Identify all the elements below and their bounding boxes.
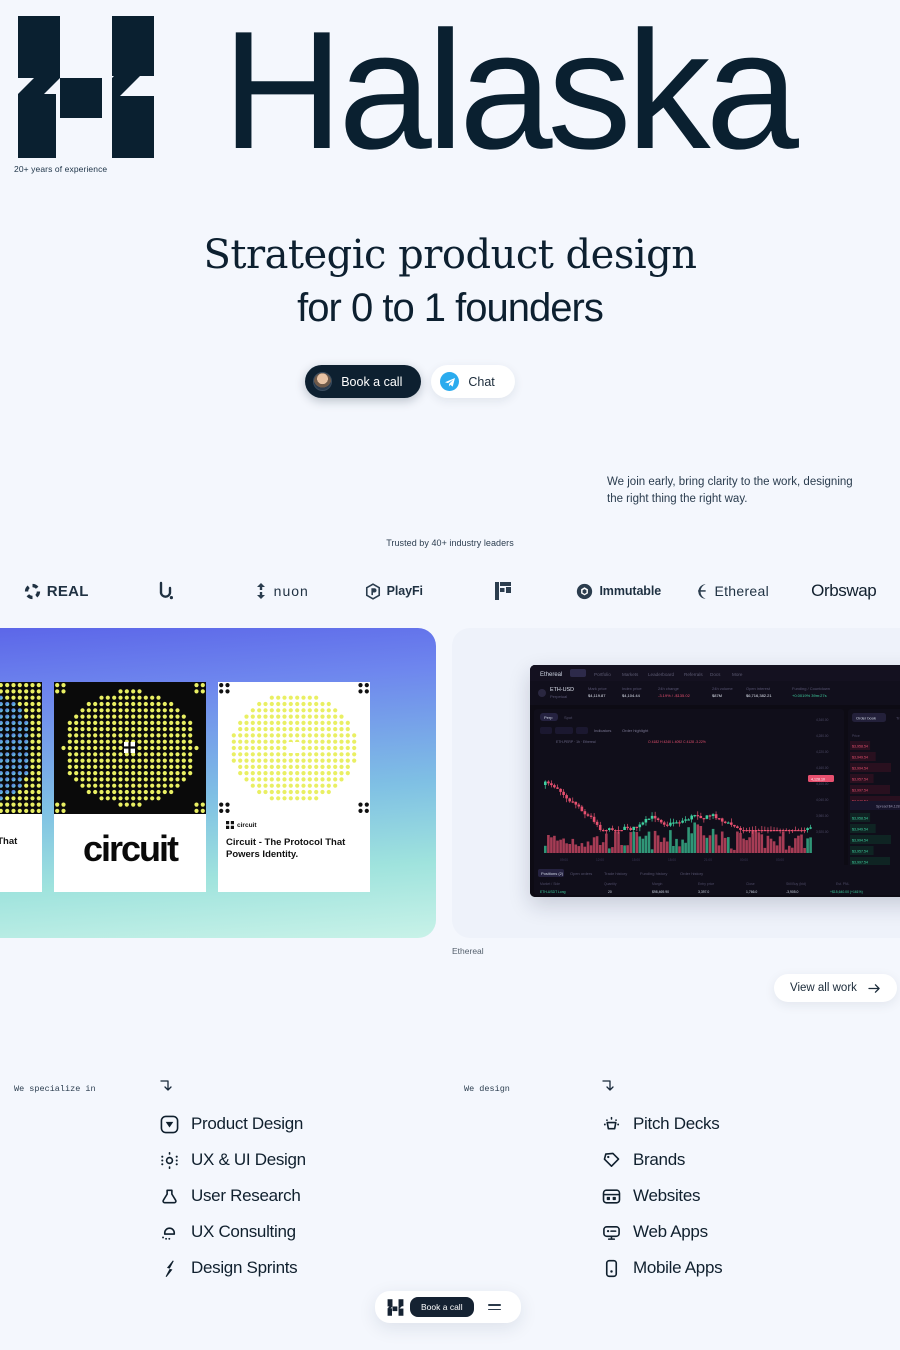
- svg-text:O 4182 H 4240 L 4092 C 4128: O 4182 H 4240 L 4092 C 4128 -3.22%: [648, 740, 706, 744]
- circuit-label: circuit: [237, 822, 257, 829]
- svg-text:$3,949.54: $3,949.54: [852, 755, 868, 759]
- svg-text:20: 20: [608, 890, 612, 894]
- svg-text:3,397.0: 3,397.0: [698, 890, 709, 894]
- svg-text:Perpetual: Perpetual: [550, 694, 567, 699]
- svg-text:Entry price: Entry price: [698, 882, 714, 886]
- svg-text:Portfolio: Portfolio: [594, 672, 611, 677]
- ethereal-crescent-icon: [693, 583, 708, 600]
- experience-note: 20+ years of experience: [14, 164, 107, 174]
- svg-text:3,980.00: 3,980.00: [816, 814, 829, 818]
- svg-text:-3.19% / -$135.02: -3.19% / -$135.02: [658, 693, 691, 698]
- service-label: UX Consulting: [191, 1222, 296, 1242]
- svg-text:$3,949.54: $3,949.54: [852, 827, 868, 831]
- service-label: Mobile Apps: [633, 1258, 722, 1278]
- service-label: Web Apps: [633, 1222, 708, 1242]
- svg-text:$3,997.54: $3,997.54: [852, 860, 868, 864]
- service-item-mobile-apps[interactable]: Mobile Apps: [602, 1250, 722, 1286]
- svg-text:ETH-USD: ETH-USD: [550, 687, 574, 693]
- svg-text:$98,469.90: $98,469.90: [652, 890, 669, 894]
- svg-text:15:00: 15:00: [632, 858, 640, 862]
- svg-text:Spot: Spot: [564, 715, 573, 720]
- svg-text:00:00: 00:00: [740, 858, 748, 862]
- svg-text:09:00: 09:00: [560, 858, 568, 862]
- svg-text:More: More: [732, 672, 743, 677]
- svg-text:Est. PNL: Est. PNL: [836, 882, 849, 886]
- ethereal-dashboard-screenshot: Ethereal PortfolioMarkets LeaderboardRef…: [530, 665, 900, 897]
- svg-text:Index price: Index price: [622, 686, 642, 691]
- svg-text:Markets: Markets: [622, 672, 639, 677]
- svg-text:4,128.10: 4,128.10: [811, 778, 825, 782]
- view-all-work-label: View all work: [790, 982, 857, 994]
- view-all-work-button[interactable]: View all work: [774, 974, 897, 1002]
- svg-text:4,280.00: 4,280.00: [816, 734, 829, 738]
- hero-headline: Strategic product design for 0 to 1 foun…: [0, 228, 900, 334]
- svg-text:4,100.00: 4,100.00: [816, 782, 829, 786]
- svg-text:24h change: 24h change: [658, 686, 680, 691]
- trusted-by-label: Trusted by 40+ industry leaders: [0, 538, 900, 548]
- ethereal-caption: Ethereal: [452, 946, 484, 956]
- work-card-ethereal[interactable]: Ethereal PortfolioMarkets LeaderboardRef…: [452, 628, 900, 938]
- circuit-mini-caption-3: Circuit - The Protocol That Powers Ident…: [218, 829, 370, 868]
- svg-text:$3,958.54: $3,958.54: [852, 744, 868, 748]
- service-label: User Research: [191, 1186, 300, 1206]
- tag-brand-icon: [602, 1151, 621, 1170]
- real-pinwheel-icon: [24, 583, 41, 600]
- svg-text:$3,957.54: $3,957.54: [852, 849, 868, 853]
- halaska-h-mark-icon: [16, 14, 156, 160]
- pitch-deck-icon: [602, 1115, 621, 1134]
- arrow-turn-down-icon: [602, 1080, 614, 1094]
- svg-text:$3,994.54: $3,994.54: [852, 766, 868, 770]
- client-logo-f-blocks[interactable]: [450, 580, 563, 602]
- monitor-webapp-icon: [602, 1223, 621, 1242]
- flask-research-icon: [160, 1187, 179, 1206]
- avatar: [313, 372, 332, 391]
- service-label: Websites: [633, 1186, 700, 1206]
- client-logo-real[interactable]: REAL: [0, 583, 113, 600]
- services-left-list: Product Design UX & UI Design User Resea…: [160, 1106, 306, 1286]
- svg-text:Order highlight: Order highlight: [622, 728, 649, 733]
- service-item-product-design[interactable]: Product Design: [160, 1106, 306, 1142]
- client-logo-script[interactable]: [113, 580, 226, 602]
- halaska-h-mark-icon[interactable]: [387, 1299, 404, 1316]
- sun-ux-ui-icon: [160, 1151, 179, 1170]
- svg-text:-3,905.0: -3,905.0: [786, 890, 799, 894]
- arrow-right-icon: [868, 983, 881, 994]
- circuit-poster-3: circuit Circuit - The Protocol That Powe…: [218, 682, 370, 892]
- svg-text:Positions (2): Positions (2): [541, 871, 564, 876]
- hamburger-menu-icon[interactable]: [480, 1300, 509, 1314]
- client-name: Immutable: [599, 584, 661, 598]
- services-right-label: We design: [464, 1084, 510, 1094]
- svg-text:$4,104.44: $4,104.44: [622, 693, 641, 698]
- service-item-web-apps[interactable]: Web Apps: [602, 1214, 722, 1250]
- svg-text:Market / Side: Market / Side: [540, 882, 560, 886]
- svg-text:Indicators: Indicators: [594, 728, 611, 733]
- svg-text:$87M: $87M: [712, 693, 722, 698]
- svg-text:4,160.00: 4,160.00: [816, 766, 829, 770]
- svg-text:$6,716,382.21: $6,716,382.21: [746, 693, 772, 698]
- svg-text:Price: Price: [852, 734, 860, 738]
- phone-mobile-icon: [602, 1259, 621, 1278]
- svg-text:Docs: Docs: [710, 672, 721, 677]
- website-window-icon: [602, 1187, 621, 1206]
- service-item-websites[interactable]: Websites: [602, 1178, 722, 1214]
- svg-text:$3,958.54: $3,958.54: [852, 816, 868, 820]
- svg-text:12:00: 12:00: [596, 858, 604, 862]
- circuit-mini-label-3: circuit: [218, 814, 370, 829]
- circuit-poster-2: circuit: [54, 682, 206, 892]
- svg-text:03:00: 03:00: [776, 858, 784, 862]
- service-item-brands[interactable]: Brands: [602, 1142, 722, 1178]
- consulting-icon: [160, 1223, 179, 1242]
- script-u-icon: [156, 580, 176, 602]
- svg-text:Order history: Order history: [680, 871, 703, 876]
- book-a-call-label: Book a call: [341, 375, 402, 389]
- arrow-turn-down-icon: [160, 1080, 172, 1094]
- telegram-icon: [440, 372, 459, 391]
- f-blocks-icon: [493, 580, 513, 602]
- svg-text:3,920.00: 3,920.00: [816, 830, 829, 834]
- product-design-icon: [160, 1115, 179, 1134]
- services-right-list: Pitch Decks Brands: [602, 1106, 722, 1286]
- client-logo-strip: REAL nuon PlayFi: [0, 572, 900, 610]
- svg-text:+0.0019% 39m:27s: +0.0019% 39m:27s: [792, 693, 827, 698]
- service-label: Brands: [633, 1150, 685, 1170]
- sprint-bolt-icon: [160, 1259, 179, 1278]
- svg-text:$3,957.54: $3,957.54: [852, 777, 868, 781]
- client-logo-playfi[interactable]: PlayFi: [338, 583, 451, 600]
- book-a-call-button[interactable]: Book a call: [305, 365, 421, 398]
- svg-text:18:00: 18:00: [668, 858, 676, 862]
- playfi-hex-icon: [365, 583, 381, 600]
- client-logo-ethereal[interactable]: Ethereal: [675, 583, 788, 600]
- client-name: Orbswap: [811, 581, 876, 601]
- svg-text:Open interest: Open interest: [746, 686, 771, 691]
- circuit-poster-1: Circuit - The Protocol That Powers Ident…: [0, 682, 42, 892]
- service-label: Product Design: [191, 1114, 303, 1134]
- svg-text:Referrals: Referrals: [684, 672, 703, 677]
- svg-text:Margin: Margin: [652, 882, 662, 886]
- svg-text:Perp: Perp: [544, 715, 553, 720]
- chat-label: Chat: [468, 375, 494, 389]
- service-label: UX & UI Design: [191, 1150, 306, 1170]
- services-left-label: We specialize in: [14, 1084, 96, 1094]
- service-item-user-research[interactable]: User Research: [160, 1178, 306, 1214]
- svg-text:ETH-PERP · 1h · Ethereal: ETH-PERP · 1h · Ethereal: [556, 740, 596, 744]
- floating-dock: Book a call: [375, 1291, 521, 1323]
- svg-text:Trade history: Trade history: [896, 716, 900, 721]
- svg-text:Open orders: Open orders: [570, 871, 592, 876]
- client-name: REAL: [47, 583, 89, 600]
- svg-text:$4,119.87: $4,119.87: [588, 693, 606, 698]
- dock-book-a-call-button[interactable]: Book a call: [410, 1297, 474, 1317]
- svg-text:Funding history: Funding history: [640, 871, 667, 876]
- service-label: Pitch Decks: [633, 1114, 719, 1134]
- work-showcase: Circuit - The Protocol That Powers Ident…: [0, 628, 900, 948]
- svg-text:4,220.00: 4,220.00: [816, 750, 829, 754]
- service-item-design-sprints[interactable]: Design Sprints: [160, 1250, 306, 1286]
- work-card-circuit[interactable]: Circuit - The Protocol That Powers Ident…: [0, 628, 436, 938]
- circuit-mini-caption: Circuit - The Protocol That Powers Ident…: [0, 828, 42, 867]
- svg-text:Ethereal: Ethereal: [540, 672, 562, 678]
- hero-tagline: We join early, bring clarity to the work…: [607, 474, 867, 508]
- svg-text:24h volume: 24h volume: [712, 686, 733, 691]
- hero-brand-block: Halaska 20+ years of experience: [0, 0, 900, 180]
- svg-text:ETH-USDT Long: ETH-USDT Long: [540, 890, 566, 894]
- client-logo-nuon[interactable]: nuon: [225, 583, 338, 599]
- client-logo-immutable[interactable]: Immutable: [563, 583, 676, 600]
- svg-text:Mark price: Mark price: [588, 686, 607, 691]
- svg-text:1,766.0: 1,766.0: [746, 890, 757, 894]
- brand-wordmark: Halaska: [222, 6, 794, 174]
- service-label: Design Sprints: [191, 1258, 297, 1278]
- svg-text:+$15,640.00 (+161%): +$15,640.00 (+161%): [830, 890, 863, 894]
- hero-cta-row: Book a call Chat: [0, 365, 900, 398]
- svg-text:$3,997.54: $3,997.54: [852, 788, 868, 792]
- service-item-pitch-decks[interactable]: Pitch Decks: [602, 1106, 722, 1142]
- circuit-dot-art-1: [0, 682, 42, 814]
- svg-text:$3,994.54: $3,994.54: [852, 838, 868, 842]
- circuit-dot-art-2: [54, 682, 206, 814]
- svg-text:Quantity: Quantity: [604, 882, 617, 886]
- service-item-ux-consulting[interactable]: UX Consulting: [160, 1214, 306, 1250]
- chat-button[interactable]: Chat: [431, 365, 514, 398]
- svg-text:Still Buy (bid): Still Buy (bid): [786, 882, 806, 886]
- service-item-ux-ui-design[interactable]: UX & UI Design: [160, 1142, 306, 1178]
- client-name: PlayFi: [387, 584, 423, 598]
- client-logo-orbswap[interactable]: Orbswap: [788, 581, 900, 601]
- svg-text:4,340.00: 4,340.00: [816, 718, 829, 722]
- svg-text:Funding / Countdown: Funding / Countdown: [792, 686, 830, 691]
- svg-text:Close: Close: [746, 882, 755, 886]
- circuit-dot-art-3: [218, 682, 370, 814]
- nuon-arrows-icon: [254, 583, 268, 599]
- svg-text:21:00: 21:00: [704, 858, 712, 862]
- svg-text:Leaderboard: Leaderboard: [648, 672, 674, 677]
- circuit-mark-icon: [226, 821, 234, 829]
- circuit-mini-label: [0, 814, 42, 828]
- svg-text:4,040.00: 4,040.00: [816, 798, 829, 802]
- headline-line-2: for 0 to 1 founders: [0, 282, 900, 334]
- svg-text:Spread $4,128.06: Spread $4,128.06: [876, 804, 900, 808]
- svg-text:Trade history: Trade history: [604, 871, 627, 876]
- svg-text:Order book: Order book: [856, 716, 876, 721]
- immutable-circle-icon: [576, 583, 593, 600]
- headline-line-1: Strategic product design: [0, 228, 900, 282]
- client-name: Ethereal: [714, 583, 769, 599]
- client-name: nuon: [274, 583, 309, 599]
- circuit-wordmark: circuit: [54, 814, 206, 870]
